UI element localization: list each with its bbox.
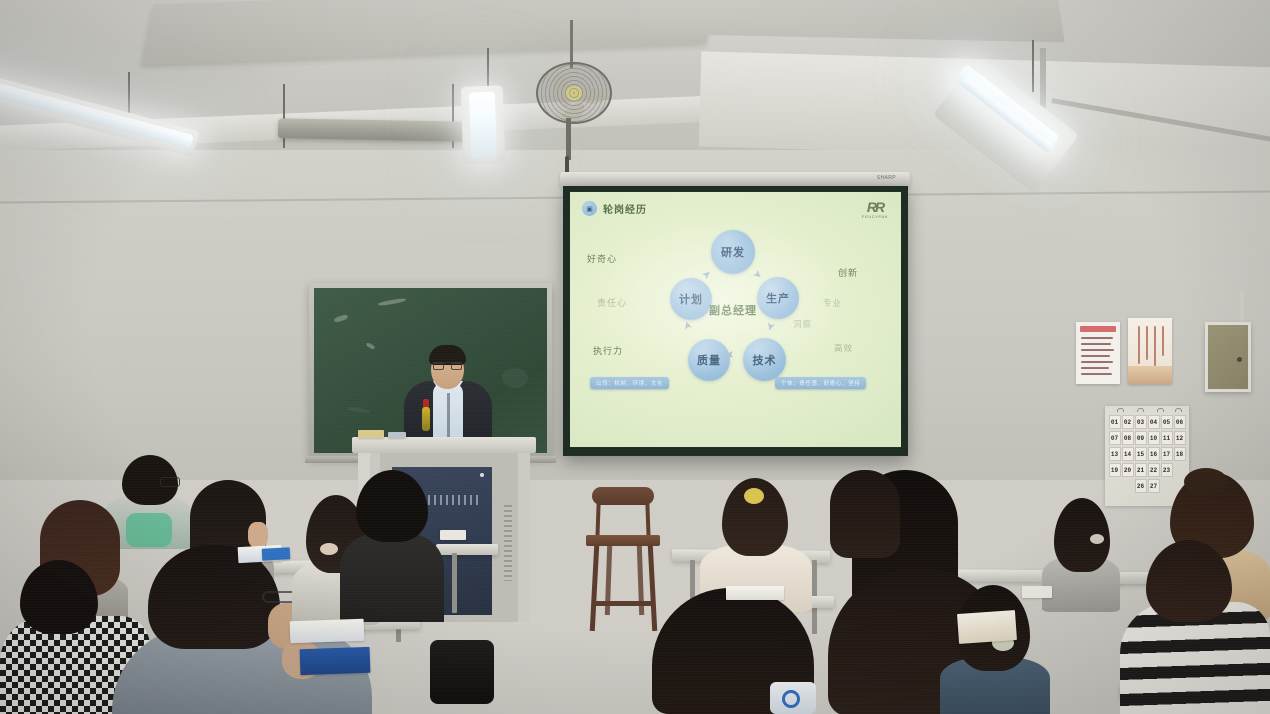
pocket-slot[interactable]: 01 [1109,415,1121,429]
chart-hook [1175,408,1182,412]
lectern-item-device[interactable] [388,432,406,438]
keyword-innovation: 创新 [838,266,858,279]
desk-leg [452,553,457,613]
cycle-arrow-2: ➤ [750,267,765,283]
pocket-slot[interactable]: 21 [1135,463,1147,477]
calligraphy-poster [1128,318,1172,384]
logo-mark: RR [862,200,888,214]
pocket-slot[interactable]: 14 [1122,447,1134,461]
pocket-slot[interactable]: 18 [1174,447,1186,461]
student-glasses-right [1042,498,1120,610]
chalk-smudge [366,342,376,350]
presentation-slide: ▣ 轮岗经历 RR FEUCYPAK 研发 生产 技术 质量 计划 [570,192,901,447]
glasses-icon [433,362,462,369]
poster-title-bar [1080,326,1116,332]
pocket-slot[interactable]: 09 [1135,431,1147,445]
calligraphy-column [1154,326,1156,366]
calligraphy-column [1146,326,1148,360]
conduit-pipe [1240,290,1244,324]
screen-case-label: SHARP [877,175,896,181]
pocket-slot[interactable]: 05 [1161,415,1173,429]
cycle-node-quality: 质量 [688,339,730,381]
chart-hook [1117,408,1124,412]
keyword-professional: 专业 [823,297,842,309]
poster-line [1081,367,1109,369]
scrunchie [1090,534,1104,544]
chart-hook [1157,408,1164,412]
poster-line [1081,349,1114,351]
cycle-node-production: 生产 [757,277,799,319]
pill-individual: 个体：责任感、好奇心、坚持 [775,377,866,389]
chalk-smudge [348,406,370,413]
fluorescent-tube-right [469,92,497,159]
student-striped-sweater [1120,540,1270,714]
backpack[interactable] [430,640,494,704]
scrunchie [320,543,338,555]
keyword-responsibility: 责任心 [597,296,627,309]
pocket-slot[interactable]: 12 [1174,431,1186,445]
pocket-slot[interactable]: 10 [1148,431,1160,445]
slide-title: 轮岗经历 [603,201,647,216]
cycle-node-planning: 计划 [670,278,712,320]
pocket-slot[interactable]: 26 [1135,479,1147,493]
keyword-efficiency: 高效 [834,342,853,354]
microphone-icon [422,407,430,431]
poster-line [1081,355,1110,357]
cycle-node-technology: 技术 [743,338,786,381]
pocket-row: 070809101112 [1108,431,1186,445]
book-blue[interactable] [262,547,291,560]
student-hair [20,560,98,634]
paper-small[interactable] [440,530,466,540]
fan-mount-pole [570,20,573,68]
lecturer [400,345,496,445]
pocket-slot[interactable]: 11 [1161,431,1173,445]
fan-stem [566,118,571,160]
student-ponytail-clip [940,585,1050,714]
poster-line [1081,343,1111,345]
paper-small[interactable] [1022,586,1052,598]
pocket-slot[interactable]: 07 [1109,431,1121,445]
wall-fan [536,62,612,124]
pocket-slot[interactable]: 02 [1122,415,1134,429]
student-hair [356,470,428,542]
poster-line [1081,361,1113,363]
glasses-lens-left [433,363,444,370]
light-cable-far-right [1032,40,1034,92]
lectern-desktop [352,437,536,453]
pocket-slot[interactable]: 19 [1109,463,1121,477]
pocket-slot[interactable]: 13 [1109,447,1121,461]
pocket-slot[interactable]: 20 [1122,463,1134,477]
poster-line [1081,373,1112,375]
slide-header: ▣ 轮岗经历 [582,201,647,216]
poster-line [1081,337,1113,339]
pocket-slot[interactable]: 22 [1148,463,1160,477]
student-hair [830,470,900,558]
student-body [340,534,444,622]
classroom-photo: SHARP ▣ 轮岗经历 RR FEUCYPAK 研发 生产 技术 质量 [0,0,1270,714]
cycle-arrow-3: ➤ [763,320,778,332]
cycle-node-rd: 研发 [711,230,755,274]
pocket-slot[interactable]: 15 [1135,447,1147,461]
keyword-curiosity: 好奇心 [587,252,617,265]
poster-footer [1128,366,1172,384]
cycle-arrow-4: ➤ [725,348,734,361]
pocket-slot[interactable]: 06 [1174,415,1186,429]
lanyard [447,393,450,439]
lectern-item-paper[interactable] [358,430,384,438]
chalk-smudge [502,368,528,388]
student-hair [1146,540,1232,622]
student-small-back [830,470,900,560]
chalk-smudge [378,298,406,307]
stool-leg [590,545,599,631]
fluorescent-tube-center [278,118,468,141]
book-blue-large[interactable] [300,647,371,675]
pocket-slot[interactable]: 04 [1148,415,1160,429]
cycle-center-label: 副总经理 [709,302,757,318]
pocket-row: 010203040506 [1108,415,1186,429]
notebook[interactable] [726,586,784,600]
ceiling-hanger [1040,48,1046,108]
cycle-arrow-5: ➤ [680,319,695,331]
wall-electrical-panel[interactable] [1205,322,1251,392]
fan-grill-icon [538,64,610,122]
company-logo: RR FEUCYPAK [862,200,888,219]
pocket-slot[interactable]: 08 [1122,431,1134,445]
desk-small-center [436,544,498,555]
stool-footrail [596,601,652,606]
calligraphy-column [1138,326,1140,364]
document-badge-icon: ▣ [582,201,597,216]
glasses-icon [160,477,180,487]
projection-screen: ▣ 轮岗经历 RR FEUCYPAK 研发 生产 技术 质量 计划 [563,186,908,456]
pocket-slot[interactable]: 17 [1161,447,1173,461]
notebook-2026[interactable] [957,610,1017,644]
pill-company: 公司：机制、环境、文化 [590,377,669,389]
keyword-execution: 执行力 [593,344,623,357]
pocket-slot[interactable]: 03 [1135,415,1147,429]
lectern-vent [504,505,512,581]
calligraphy-column [1162,326,1164,356]
logo-circle-icon [782,690,800,708]
pocket-slot[interactable]: 16 [1148,447,1160,461]
paper-stack[interactable] [290,619,365,644]
glasses-lens-right [451,363,462,370]
hair-bun [1184,468,1228,496]
ceiling-slab-left [141,0,719,65]
pocket-row: 131415161718 [1108,447,1186,461]
lectern-screw [480,473,484,477]
chart-hook [1137,408,1144,412]
rules-poster [1076,322,1120,384]
logo-subtext: FEUCYPAK [862,215,888,219]
hair-clip [744,488,764,504]
keyword-insight: 洞察 [793,318,812,330]
student-black-hoodie [340,470,444,620]
panel-lock-icon[interactable] [1237,357,1242,362]
hoodie-graphic [126,513,172,547]
chalk-smudge [334,314,349,323]
pocket-slot[interactable]: 27 [1148,479,1160,493]
